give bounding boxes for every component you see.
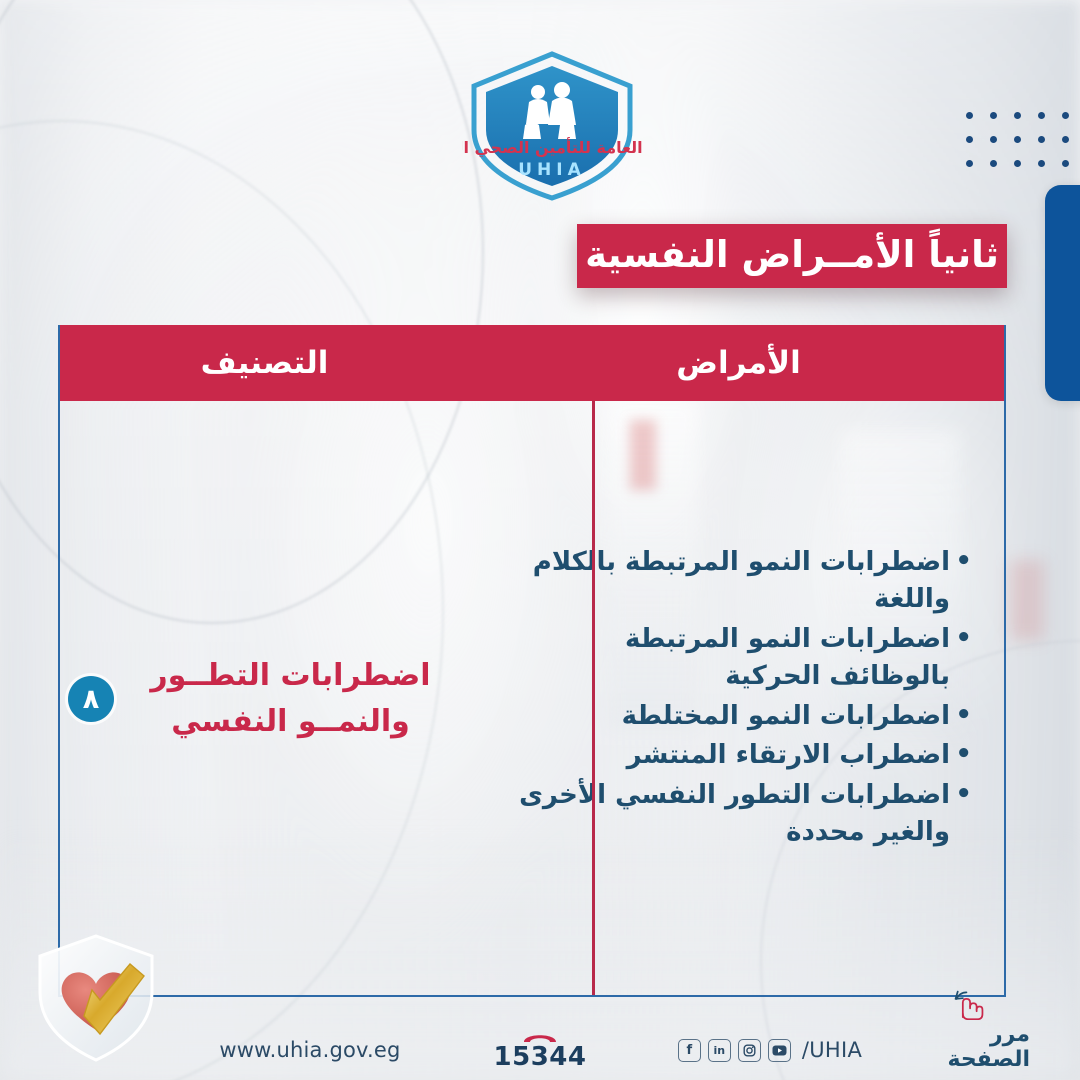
linkedin-icon[interactable]: in	[708, 1039, 731, 1062]
social-handle: /UHIA	[802, 1038, 862, 1062]
corridor-red-sign-blur-2	[1010, 560, 1044, 640]
list-item: اضطرابات النمو المرتبطة بالوظائف الحركية	[497, 621, 972, 695]
grid-dot	[1038, 112, 1045, 119]
grid-dot	[966, 136, 973, 143]
table-header-classification: التصنيف	[58, 325, 471, 401]
grid-dot	[1062, 160, 1069, 167]
table-column-divider	[592, 401, 595, 995]
grid-dot	[966, 112, 973, 119]
grid-dot	[1038, 136, 1045, 143]
section-title-banner: ثانياً الأمــراض النفسية	[577, 224, 1007, 288]
hotline-block[interactable]: 15344	[460, 1029, 620, 1072]
list-item: اضطرابات النمو المختلطة	[497, 698, 972, 735]
svg-text:UHIA: UHIA	[518, 160, 586, 180]
blue-tab-decoration	[1045, 185, 1080, 401]
list-item: اضطرابات النمو المرتبطة بالكلام واللغة	[497, 544, 972, 618]
uhia-shield-logo: الهيئة العامة للتأمين الصحي الشامل UHIA	[462, 46, 642, 206]
category-number-badge: ٨	[68, 676, 114, 722]
facebook-icon[interactable]: f	[678, 1039, 701, 1062]
grid-dot	[1062, 136, 1069, 143]
instagram-icon[interactable]	[738, 1039, 761, 1062]
poster-canvas: الهيئة العامة للتأمين الصحي الشامل UHIA …	[0, 0, 1080, 1080]
website-link[interactable]: www.uhia.gov.eg	[160, 1038, 460, 1062]
swipe-hand-icon	[937, 988, 993, 1020]
list-item: اضطراب الارتقاء المنتشر	[497, 737, 972, 774]
social-links[interactable]: f in /UHIA	[620, 1038, 920, 1062]
hotline-number: 15344	[494, 1042, 587, 1072]
page-title: ثانياً الأمــراض النفسية	[585, 236, 999, 273]
table-header-row: الأمراض التصنيف	[58, 325, 1006, 401]
grid-dot	[1014, 112, 1021, 119]
grid-dot	[990, 160, 997, 167]
diseases-list: اضطرابات النمو المرتبطة بالكلام واللغة ا…	[497, 544, 972, 854]
dot-grid-decoration	[966, 112, 1069, 167]
table-cell-diseases: اضطرابات النمو المرتبطة بالكلام واللغة ا…	[471, 401, 1006, 997]
grid-dot	[990, 112, 997, 119]
youtube-icon[interactable]	[768, 1039, 791, 1062]
grid-dot	[1062, 112, 1069, 119]
grid-dot	[1014, 136, 1021, 143]
table-header-diseases: الأمراض	[471, 325, 1006, 401]
table-cell-classification: اضطرابات التطــور والنمــو النفسي ٨	[58, 401, 471, 997]
category-label: اضطرابات التطــور والنمــو النفسي	[128, 653, 453, 746]
table-body: اضطرابات النمو المرتبطة بالكلام واللغة ا…	[58, 401, 1006, 997]
grid-dot	[1038, 160, 1045, 167]
list-item: اضطرابات التطور النفسي الأخرى والغير محد…	[497, 777, 972, 851]
grid-dot	[966, 160, 973, 167]
diseases-table: الأمراض التصنيف اضطرابات النمو المرتبطة …	[58, 325, 1006, 997]
footer: www.uhia.gov.eg 15344 f in	[0, 1026, 1080, 1074]
grid-dot	[990, 136, 997, 143]
grid-dot	[1014, 160, 1021, 167]
phone-handset-icon	[520, 1029, 560, 1043]
svg-text:الهيئة العامة للتأمين الصحي ال: الهيئة العامة للتأمين الصحي الشامل	[462, 137, 642, 158]
